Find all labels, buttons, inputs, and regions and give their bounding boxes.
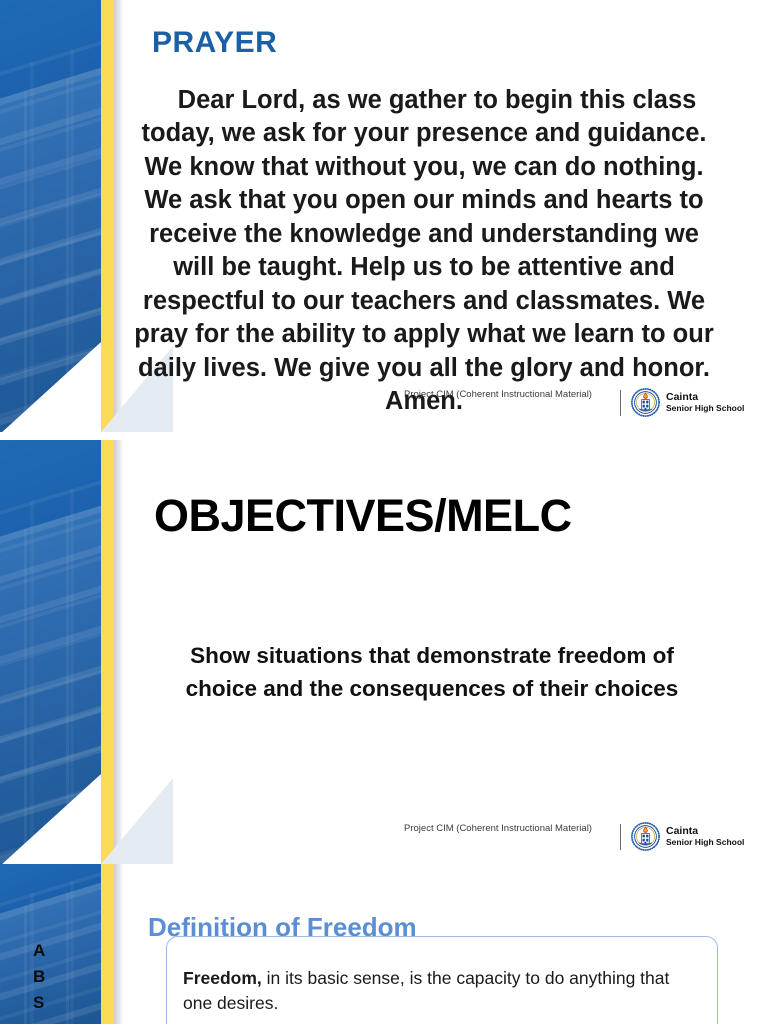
- prayer-body-text: Dear Lord, as we gather to begin this cl…: [128, 84, 720, 419]
- abs-initials: A B S: [33, 938, 46, 1016]
- slide-objectives: OBJECTIVES/MELC Show situations that dem…: [0, 440, 768, 864]
- brand-lockup: Cainta Senior High School: [620, 388, 744, 417]
- brand-subtitle: Senior High School: [666, 403, 744, 414]
- building-photo-grid: [0, 864, 101, 1024]
- abs-letter-s: S: [33, 990, 46, 1016]
- abs-letter-a: A: [33, 938, 46, 964]
- definition-text: Freedom, in its basic sense, is the capa…: [183, 966, 701, 1016]
- brand-divider: [620, 390, 621, 416]
- rail-drop-shadow: [114, 864, 122, 1024]
- slide-prayer: PRAYER Dear Lord, as we gather to begin …: [0, 0, 768, 432]
- brand-divider: [620, 824, 621, 850]
- footer-credit-text: Project CIM (Coherent Instructional Mate…: [398, 822, 598, 836]
- slide-deck: PRAYER Dear Lord, as we gather to begin …: [0, 0, 768, 1024]
- rail-yellow-stripe: [101, 864, 114, 1024]
- rail-blue-panel: [0, 864, 101, 1024]
- brand-subtitle: Senior High School: [666, 837, 744, 848]
- slide-definition: A B S Definition of Freedom Freedom, in …: [0, 864, 768, 1024]
- brand-name: Cainta: [666, 826, 744, 837]
- brand-text-block: Cainta Senior High School: [666, 826, 744, 848]
- page-title: OBJECTIVES/MELC: [154, 490, 572, 542]
- objectives-body-text: Show situations that demonstrate freedom…: [152, 639, 712, 705]
- slide-footer: Project CIM (Coherent Instructional Mate…: [0, 822, 768, 864]
- page-title: PRAYER: [152, 26, 277, 60]
- decorative-rail: [0, 864, 122, 1024]
- brand-lockup: Cainta Senior High School: [620, 822, 744, 851]
- slide-footer: Project CIM (Coherent Instructional Mate…: [0, 388, 768, 432]
- brand-text-block: Cainta Senior High School: [666, 392, 744, 414]
- school-seal-icon: [631, 388, 660, 417]
- rail-white-notch: [0, 342, 101, 432]
- rail-white-notch: [0, 774, 101, 864]
- school-seal-icon: [631, 822, 660, 851]
- footer-credit-text: Project CIM (Coherent Instructional Mate…: [398, 388, 598, 402]
- abs-letter-b: B: [33, 964, 46, 990]
- brand-name: Cainta: [666, 392, 744, 403]
- rail-blue-panel: [0, 0, 101, 432]
- rail-blue-panel: [0, 440, 101, 864]
- definition-term: Freedom,: [183, 968, 262, 988]
- definition-callout-box: Freedom, in its basic sense, is the capa…: [166, 936, 718, 1024]
